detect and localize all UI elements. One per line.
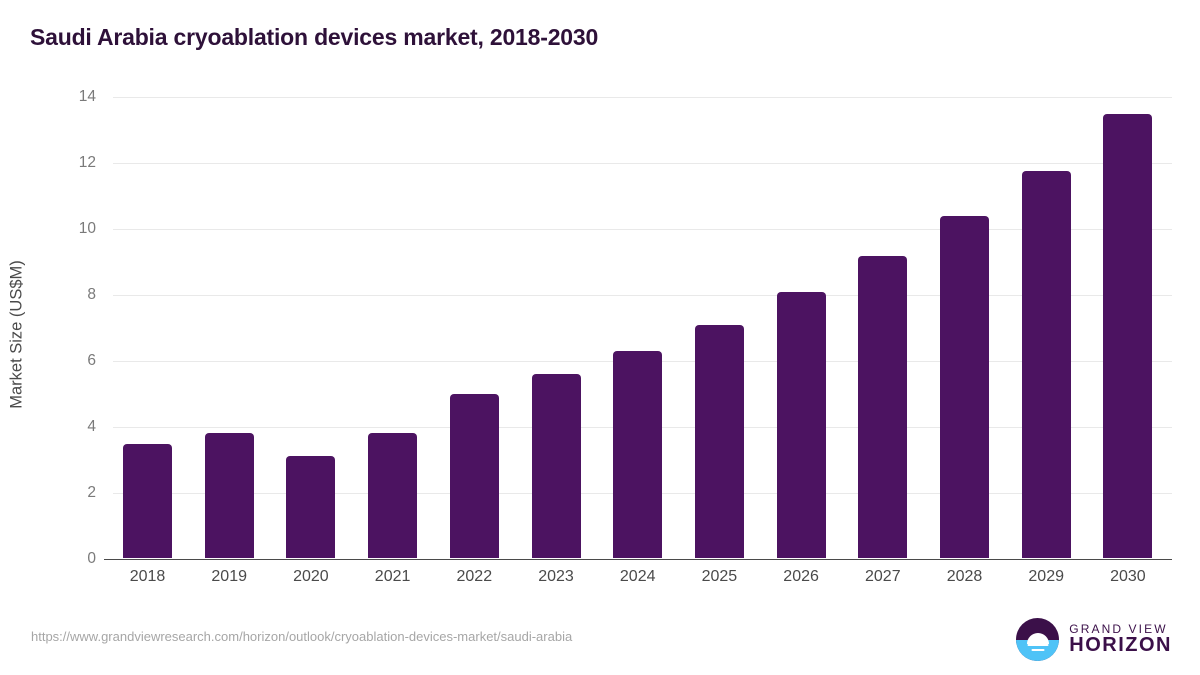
logo-line-short <box>1031 649 1044 652</box>
bar-2029[interactable] <box>1022 171 1071 558</box>
x-tick-label-2026: 2026 <box>761 568 841 586</box>
x-tick-label-2023: 2023 <box>516 568 596 586</box>
bar-2022[interactable] <box>450 394 499 558</box>
bar-2021[interactable] <box>368 433 417 558</box>
source-url[interactable]: https://www.grandviewresearch.com/horizo… <box>31 629 572 644</box>
bar-2025[interactable] <box>695 325 744 558</box>
x-tick-label-2020: 2020 <box>271 568 351 586</box>
bar-2028[interactable] <box>940 216 989 558</box>
x-tick-label-2028: 2028 <box>925 568 1005 586</box>
logo-text-horizon: HORIZON <box>1069 635 1172 656</box>
bar-2030[interactable] <box>1103 114 1152 558</box>
chart-page: Saudi Arabia cryoablation devices market… <box>0 0 1200 675</box>
logo-wordmark: GRAND VIEW HORIZON <box>1069 623 1172 657</box>
x-tick-label-2024: 2024 <box>598 568 678 586</box>
x-tick-label-2025: 2025 <box>679 568 759 586</box>
bar-2018[interactable] <box>123 444 172 558</box>
x-tick-label-2022: 2022 <box>434 568 514 586</box>
logo-dome-shape <box>1027 633 1049 644</box>
x-tick-label-2029: 2029 <box>1006 568 1086 586</box>
logo-line-long <box>1027 644 1048 647</box>
bar-series: 2018201920202021202220232024202520262027… <box>0 0 1200 675</box>
x-tick-label-2019: 2019 <box>189 568 269 586</box>
x-tick-label-2018: 2018 <box>108 568 188 586</box>
bar-2026[interactable] <box>777 292 826 558</box>
bar-2027[interactable] <box>858 256 907 558</box>
x-tick-label-2021: 2021 <box>353 568 433 586</box>
horizon-circle-icon <box>1016 618 1059 661</box>
x-tick-label-2027: 2027 <box>843 568 923 586</box>
grand-view-horizon-logo: GRAND VIEW HORIZON <box>1016 618 1172 661</box>
bar-2024[interactable] <box>613 351 662 558</box>
bar-2020[interactable] <box>286 456 335 558</box>
x-tick-label-2030: 2030 <box>1088 568 1168 586</box>
bar-2019[interactable] <box>205 433 254 558</box>
bar-2023[interactable] <box>532 374 581 558</box>
plot-area: Market Size (US$M) 02468101214 201820192… <box>0 0 1200 675</box>
